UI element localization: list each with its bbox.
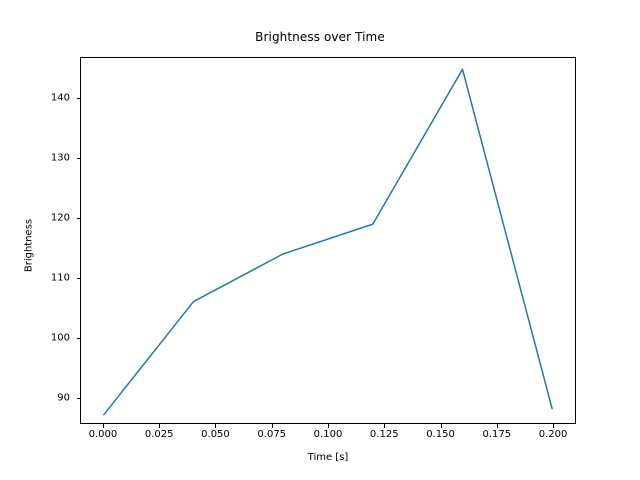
- y-tick-mark: [77, 338, 81, 339]
- x-tick-label: 0.050: [201, 429, 230, 440]
- y-tick-mark: [77, 98, 81, 99]
- x-tick-mark: [384, 424, 385, 428]
- x-tick-mark: [159, 424, 160, 428]
- y-tick-mark: [77, 158, 81, 159]
- x-axis-label: Time [s]: [80, 452, 576, 463]
- x-tick-mark: [328, 424, 329, 428]
- x-tick-label: 0.150: [426, 429, 455, 440]
- y-tick-mark: [77, 278, 81, 279]
- y-tick-label: 130: [30, 153, 70, 164]
- y-tick-mark: [77, 218, 81, 219]
- x-tick-mark: [272, 424, 273, 428]
- y-tick-label: 100: [30, 332, 70, 343]
- y-tick-label: 120: [30, 213, 70, 224]
- x-tick-mark: [103, 424, 104, 428]
- line-plot-svg: [81, 58, 575, 423]
- matplotlib-figure: Brightness over Time 0.0000.0250.0500.07…: [0, 0, 640, 480]
- y-tick-label: 110: [30, 272, 70, 283]
- brightness-line-series: [104, 69, 552, 414]
- y-tick-mark: [77, 398, 81, 399]
- x-tick-label: 0.175: [482, 429, 511, 440]
- x-tick-label: 0.000: [89, 429, 118, 440]
- x-tick-label: 0.125: [370, 429, 399, 440]
- x-tick-label: 0.075: [257, 429, 286, 440]
- x-tick-label: 0.100: [314, 429, 343, 440]
- y-tick-label: 140: [30, 93, 70, 104]
- chart-title: Brightness over Time: [0, 30, 640, 44]
- x-tick-mark: [553, 424, 554, 428]
- x-tick-label: 0.200: [539, 429, 568, 440]
- x-tick-label: 0.025: [145, 429, 174, 440]
- x-tick-mark: [441, 424, 442, 428]
- plot-area: [80, 57, 576, 424]
- x-tick-mark: [497, 424, 498, 428]
- y-tick-label: 90: [30, 392, 70, 403]
- y-axis-label: Brightness: [24, 196, 35, 296]
- x-tick-mark: [215, 424, 216, 428]
